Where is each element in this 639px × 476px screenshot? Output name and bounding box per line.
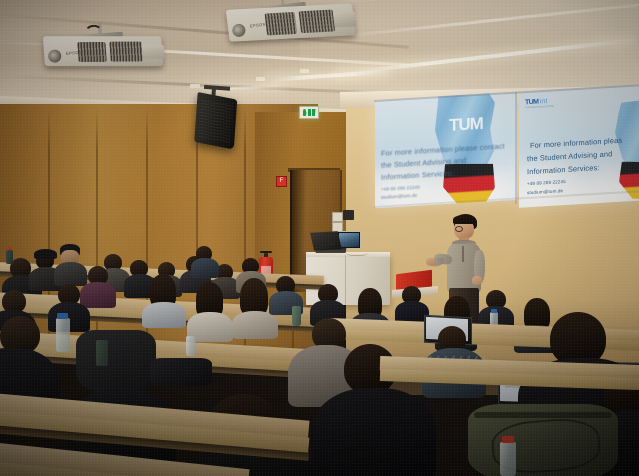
presenter-hand-right xyxy=(472,276,482,285)
bottle-cap xyxy=(7,247,12,250)
water-bottle xyxy=(186,336,195,356)
presenter-hand-left xyxy=(426,258,436,266)
projector-vent xyxy=(265,12,298,35)
tum-int-logo: TUM int TUM International Center xyxy=(525,98,547,106)
backpack-olive xyxy=(468,404,618,476)
water-bottle xyxy=(56,318,70,352)
travel-mug xyxy=(292,306,301,326)
water-bottle xyxy=(6,250,13,264)
wall-outlet-plate[interactable] xyxy=(332,212,343,222)
projector-vent xyxy=(298,10,335,34)
presenter-glasses xyxy=(455,226,463,232)
presenter-hair-top xyxy=(453,215,475,224)
ceiling-projector-left: EPSON xyxy=(42,18,170,85)
bottle-cap xyxy=(57,313,68,319)
tum-flag-logo: TUM xyxy=(449,114,483,136)
water-bottle xyxy=(96,340,108,366)
jacket-on-bench xyxy=(150,358,212,386)
ceiling-speaker xyxy=(194,84,244,149)
fire-extinguisher-handle xyxy=(260,251,272,253)
fire-extinguisher-sign-label: F xyxy=(277,177,286,185)
water-bottle xyxy=(500,442,516,476)
bottle-cap xyxy=(502,436,514,443)
backpack-strap xyxy=(474,412,612,418)
projector-vent xyxy=(109,42,142,62)
lectern-cable xyxy=(346,248,368,256)
bottle-cap xyxy=(491,309,497,313)
projection-screen-left: TUM For more information please contact … xyxy=(375,92,517,208)
projection-screen-right: TUM int TUM International Center For mor… xyxy=(519,84,639,207)
cap xyxy=(34,249,57,259)
screen-divider xyxy=(515,92,517,204)
emergency-exit-sign xyxy=(299,106,319,119)
lecture-hall-photo: EPSON EPSON xyxy=(0,0,639,476)
lectern-seam xyxy=(345,255,346,305)
fire-extinguisher-sign: F xyxy=(276,176,287,187)
speaker-grille xyxy=(199,99,233,143)
wall-port-panel[interactable] xyxy=(343,210,354,220)
lectern-laptop-lid[interactable] xyxy=(310,231,342,250)
presenter-zipper xyxy=(462,246,464,262)
backpack-black xyxy=(76,330,156,392)
